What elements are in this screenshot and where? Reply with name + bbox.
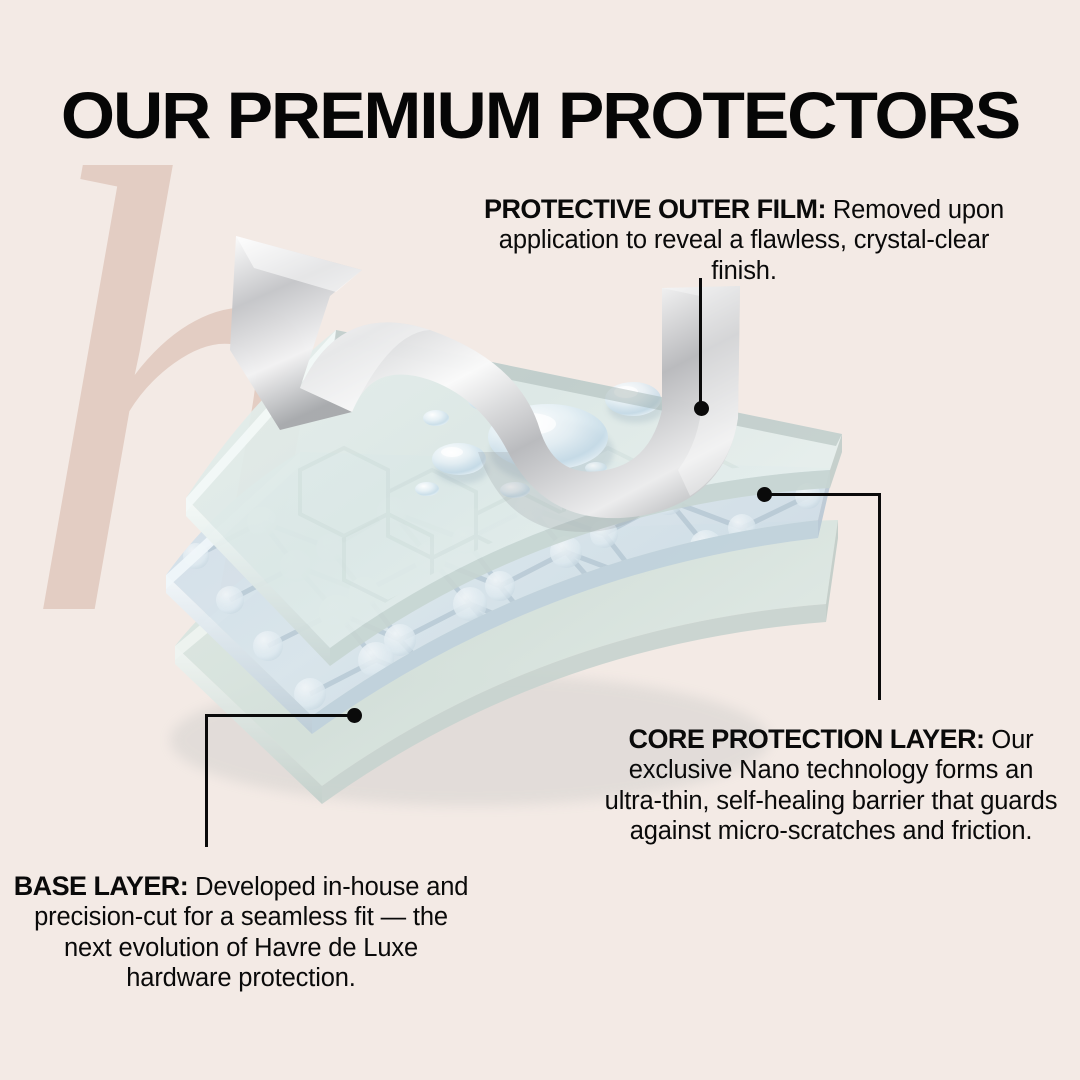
- leader-line-base-horizontal: [205, 714, 357, 717]
- callout-core-lead: CORE PROTECTION LAYER:: [629, 724, 985, 754]
- leader-line-core-vertical: [878, 493, 881, 700]
- leader-dot-film: [694, 401, 709, 416]
- leader-line-base-vertical: [205, 714, 208, 847]
- leader-dot-core: [757, 487, 772, 502]
- callout-film-text: PROTECTIVE OUTER FILM: Removed upon appl…: [468, 194, 1020, 287]
- callout-base-layer: BASE LAYER: Developed in-house and preci…: [8, 845, 474, 1019]
- callout-base-lead: BASE LAYER:: [14, 871, 189, 901]
- callout-protective-outer-film: PROTECTIVE OUTER FILM: Removed upon appl…: [468, 168, 1020, 312]
- leader-dot-base: [347, 708, 362, 723]
- callout-core-text: CORE PROTECTION LAYER: Our exclusive Nan…: [600, 724, 1062, 847]
- leader-line-core-horizontal: [768, 493, 881, 496]
- infographic-canvas: h: [0, 0, 1080, 1080]
- callout-film-lead: PROTECTIVE OUTER FILM:: [484, 194, 826, 224]
- callout-base-text: BASE LAYER: Developed in-house and preci…: [8, 871, 474, 994]
- page-title: OUR PREMIUM PROTECTORS: [0, 82, 1080, 148]
- callout-core-protection-layer: CORE PROTECTION LAYER: Our exclusive Nan…: [600, 698, 1062, 872]
